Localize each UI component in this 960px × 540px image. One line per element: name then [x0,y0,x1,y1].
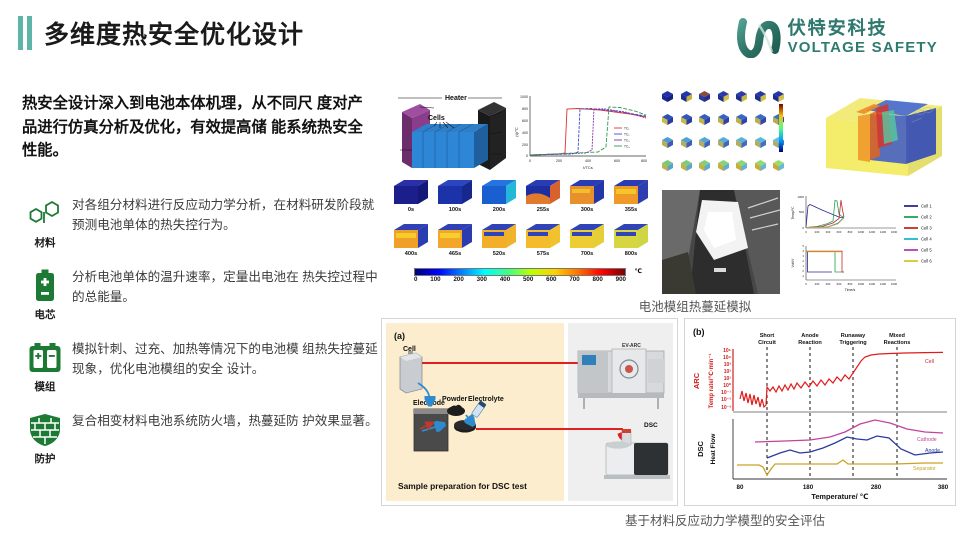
feature-icon-wrap: 电芯 [18,264,72,322]
instrument-label-arc: EV-ARC [622,343,641,349]
thermal-frame: 355s [610,176,652,220]
thermal-frame: 300s [566,176,608,220]
legend-cell-2: Cell 2 [921,214,932,219]
list-item: 材料 对各组分材料进行反应动力学分析，在材料研发阶段就预测电池单体的热失控行为。 [18,192,386,250]
module-thermal-frames-figure: Heater Cells [386,86,654,306]
svg-text:10⁻¹: 10⁻¹ [721,390,731,396]
thermal-tile-row [660,134,786,157]
legend-cell-1: Cell 1 [921,203,932,208]
frame-label: 355s [610,207,652,213]
thermal-tile [697,134,712,155]
legend-cell-6: Cell 6 [921,258,932,263]
svg-text:500: 500 [799,210,804,214]
thermal-tile-row [660,88,786,111]
thermal-tile [660,157,675,178]
svg-text:800: 800 [641,159,647,163]
thermal-tile [734,134,749,155]
thermal-tile [753,157,768,178]
thermal-tile [734,111,749,132]
legend-cell-4: Cell 4 [921,236,932,241]
node-label-electrolyte: Electrolyte [468,396,504,403]
colorbar-tick: 800 [593,276,603,283]
svg-text:Circuit: Circuit [758,340,776,346]
heater-cells-diagram: Heater Cells [390,88,508,172]
thermal-tile-row [660,111,786,134]
svg-text:200: 200 [815,230,820,234]
thermal-tile [716,88,731,109]
figure-caption-module-sim: 电池模组热蔓延模拟 [570,296,820,315]
svg-text:400: 400 [585,159,591,163]
frame-label: 465s [434,251,476,257]
svg-text:Reaction: Reaction [798,340,822,346]
svg-text:-1: -1 [802,274,805,278]
svg-text:Reactions: Reactions [884,340,911,346]
svg-text:1000: 1000 [797,195,804,199]
feature-text: 模拟针刺、过充、加热等情况下的电池模 组热失控蔓延现象，优化电池模组的安全 设计… [72,336,386,380]
frame-label: 255s [522,207,564,213]
feature-icon-label: 模组 [35,379,56,394]
dsc-ylabel: Heat Flow [710,433,717,465]
thermal-frame: 520s [478,220,520,264]
colorbar-tick: 100 [430,276,440,283]
annotation-runaway-triggering: Runaway [841,333,866,339]
thermal-tile [697,111,712,132]
thermal-frame-row: 400s 465s 520s 575s 700s [390,220,652,264]
thermal-tile [679,88,694,109]
svg-text:4: 4 [803,249,805,253]
svg-text:10⁻²: 10⁻² [721,397,731,403]
legend-cell-5: Cell 5 [921,247,932,252]
frame-label: 700s [566,251,608,257]
svg-text:1000: 1000 [858,282,865,286]
thermal-tile [660,111,675,132]
feature-icon-wrap: 材料 [18,192,72,250]
colorbar-unit: ℃ [635,268,643,275]
colorbar-tick: 300 [477,276,487,283]
arc-ylabel: Temp rate/℃·min⁻¹ [708,354,715,409]
logo-text-en: VOLTAGE SAFETY [788,40,938,55]
svg-text:0: 0 [803,269,805,273]
colorbar-tick: 500 [523,276,533,283]
svg-text:800: 800 [848,230,853,234]
thermal-frame-grid: 0s 100s 200s 255s 300s [390,176,652,264]
thermal-frame: 255s [522,176,564,220]
arc-dsc-chart-figure: (b) ShortCircuit AnodeReaction RunawayTr… [684,318,956,506]
svg-text:800: 800 [522,107,528,111]
figure-caption-material-model: 基于材料反应动力学模型的安全评估 [560,510,890,529]
arc-label: ARC [692,372,701,389]
module-slice-render [808,88,944,184]
title-accent-bars [18,16,34,50]
thermal-tile [753,134,768,155]
slide-root: 多维度热安全优化设计 伏特安科技 VOLTAGE SAFETY 热安全设计深入到… [0,0,960,540]
shield-brick-icon [29,413,61,447]
svg-text:10⁴: 10⁴ [723,355,732,361]
annotation-anode-reaction: Anode [801,333,818,339]
feature-text: 对各组分材料进行反应动力学分析，在材料研发阶段就预测电池单体的热失控行为。 [72,192,386,236]
thermal-tile [660,134,675,155]
module-propagation-figure: 10005000 0200400 6008001000 120014001600… [656,86,956,306]
thermal-frame: 700s [566,220,608,264]
svg-text:(t)/℃: (t)/℃ [514,127,519,137]
thermal-frame: 465s [434,220,476,264]
svg-text:1600: 1600 [891,230,898,234]
svg-text:200: 200 [522,143,528,147]
frame-label: 400s [390,251,432,257]
thermal-tile [716,157,731,178]
page-title: 多维度热安全优化设计 [44,15,304,51]
xtick: 80 [737,484,744,491]
svg-text:600: 600 [837,282,842,286]
list-item: 电芯 分析电池单体的温升速率，定量出电池在 热失控过程中的总能量。 [18,264,386,322]
thermal-frame: 575s [522,220,564,264]
svg-text:10¹: 10¹ [724,376,732,382]
dsc-series-label-anode: Anode [925,448,940,454]
svg-text:1600: 1600 [891,282,898,286]
feature-icon-wrap: 防护 [18,408,72,466]
svg-text:0: 0 [526,154,528,158]
xtick: 280 [871,484,882,491]
thermal-tile [716,111,731,132]
svg-text:10⁵: 10⁵ [723,348,732,354]
feature-icon-label: 材料 [35,235,56,250]
svg-text:800: 800 [848,282,853,286]
feature-list: 材料 对各组分材料进行反应动力学分析，在材料研发阶段就预测电池单体的热失控行为。… [18,192,386,480]
thermal-tile-row [660,157,786,180]
cells-label: Cells [428,115,445,122]
frame-label: 200s [478,207,520,213]
svg-text:400: 400 [826,230,831,234]
svg-text:TC₂: TC₂ [624,132,630,136]
slide-header: 多维度热安全优化设计 [0,10,620,56]
svg-text:1400: 1400 [880,282,887,286]
svg-text:10⁻³: 10⁻³ [721,405,731,411]
frame-label: 575s [522,251,564,257]
node-label-powder: Powder [442,396,468,403]
thermal-tile [716,134,731,155]
brand-logo: 伏特安科技 VOLTAGE SAFETY [737,14,938,60]
svg-text:TC₃: TC₃ [624,138,630,142]
dsc-label: DSC [696,441,705,457]
dsc-xlabel: Temperature/ ℃ [811,492,868,501]
frame-label: 300s [566,207,608,213]
thermal-runaway-video-frame [662,190,780,294]
svg-text:600: 600 [614,159,620,163]
svg-text:TC₁: TC₁ [624,126,629,130]
feature-icon-label: 电芯 [35,307,56,322]
svg-text:1200: 1200 [869,282,876,286]
svg-text:400: 400 [826,282,831,286]
list-item: 防护 复合相变材料电池系统防火墙，热蔓延防 护效果显著。 [18,408,386,466]
annotation-short-circuit: Short [760,333,775,339]
frame-label: 520s [478,251,520,257]
thermal-tile [660,88,675,109]
svg-text:1000: 1000 [520,95,528,99]
thermal-tile [697,157,712,178]
xtick: 380 [938,484,949,491]
thermal-tile [734,157,749,178]
dsc-series-label-separator: Separator [913,466,936,472]
svg-text:400: 400 [522,131,528,135]
svg-text:0: 0 [529,159,531,163]
thermal-frame: 100s [434,176,476,220]
svg-text:200: 200 [556,159,562,163]
thermal-tile [697,88,712,109]
colorbar-tick: 900 [616,276,626,283]
svg-text:Volt/V: Volt/V [791,258,795,268]
heater-label: Heater [445,95,467,102]
frame-label: 800s [610,251,652,257]
panel-a-footer: Sample preparation for DSC test [398,481,527,491]
svg-text:5: 5 [803,244,805,248]
battery-module-icon [28,342,62,374]
thermal-tile-grid [660,88,786,180]
svg-text:1000: 1000 [858,230,865,234]
lead-paragraph: 热安全设计深入到电池本体机理，从不同尺 度对产品进行仿真分析及优化，有效提高储 … [22,92,374,163]
thermal-tile [679,157,694,178]
tile-grid-colorbar [778,102,788,162]
battery-cell-icon [33,269,57,303]
thermal-frame: 800s [610,220,652,264]
thermal-frame: 0s [390,176,432,220]
svg-text:0: 0 [802,226,804,230]
colorbar-tick: 400 [500,276,510,283]
panel-a-tag: (a) [394,331,405,341]
thermal-frame: 200s [478,176,520,220]
svg-text:0: 0 [805,282,807,286]
cell-temp-volt-chart: 10005000 0200400 6008001000 120014001600… [786,190,954,294]
svg-text:10⁰: 10⁰ [723,383,731,389]
feature-icon-label: 防护 [35,451,56,466]
thermal-frame-row: 0s 100s 200s 255s 300s [390,176,652,220]
svg-text:0: 0 [805,230,807,234]
instrument-label-dsc: DSC [644,422,658,429]
svg-text:1: 1 [803,264,805,268]
svg-text:600: 600 [837,230,842,234]
colorbar-tick: 700 [569,276,579,283]
logo-text-cn: 伏特安科技 [788,19,938,37]
colorbar-tick: 600 [546,276,556,283]
temperature-colorbar: 0 100 200 300 400 500 600 700 800 900 ℃ [414,268,626,283]
heater-tc-chart: 1000800600 4002000 0200400 600800 (t)/℃ … [510,90,652,172]
dsc-series-label-cathode: Cathode [917,437,937,443]
feature-text: 分析电池单体的温升速率，定量出电池在 热失控过程中的总能量。 [72,264,386,308]
svg-text:t/TCs: t/TCs [583,165,593,170]
legend-cell-3: Cell 3 [921,225,932,230]
thermal-tile [679,111,694,132]
svg-text:1200: 1200 [869,230,876,234]
thermal-tile [753,111,768,132]
svg-text:Time/s: Time/s [845,288,856,292]
svg-text:Triggering: Triggering [839,340,867,346]
thermal-tile [679,134,694,155]
svg-text:1400: 1400 [880,230,887,234]
colorbar-tick: 0 [414,276,417,283]
dsc-sample-preparation-figure: (a) Cell Electrode Powder Electrolyte [381,318,678,506]
panel-b-tag: (b) [693,327,705,337]
thermal-tile [753,88,768,109]
feature-icon-wrap: 模组 [18,336,72,394]
svg-text:10³: 10³ [724,362,732,368]
svg-text:3: 3 [803,254,805,258]
svg-text:10²: 10² [724,369,732,375]
logo-mark-icon [737,16,781,58]
frame-label: 0s [390,207,432,213]
svg-text:Temp/℃: Temp/℃ [791,206,795,219]
annotation-mixed-reactions: Mixed [889,333,905,339]
node-label-electrode: Electrode [413,400,445,407]
thermal-tile [734,88,749,109]
thermal-frame: 400s [390,220,432,264]
svg-text:600: 600 [522,119,528,123]
svg-text:TC₄: TC₄ [624,144,630,148]
colorbar-tick: 200 [453,276,463,283]
hexagon-molecule-icon [28,199,62,229]
svg-text:200: 200 [815,282,820,286]
frame-label: 100s [434,207,476,213]
feature-text: 复合相变材料电池系统防火墙，热蔓延防 护效果显著。 [72,408,386,431]
svg-text:2: 2 [803,259,805,263]
arc-series-label: Cell [925,359,934,365]
list-item: 模组 模拟针刺、过充、加热等情况下的电池模 组热失控蔓延现象，优化电池模组的安全… [18,336,386,394]
xtick: 180 [803,484,814,491]
